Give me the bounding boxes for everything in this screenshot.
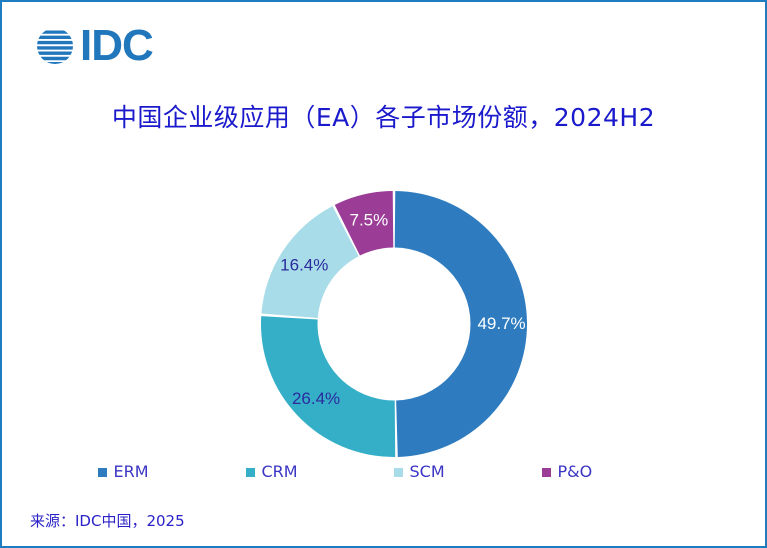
legend-swatch-icon: [394, 468, 403, 477]
slice-label-erm: 49.7%: [477, 314, 525, 333]
legend-item-scm[interactable]: SCM: [394, 464, 542, 480]
legend-swatch-icon: [246, 468, 255, 477]
legend-item-label: ERM: [114, 464, 149, 480]
source-note: 来源：IDC中国，2025: [30, 510, 185, 531]
legend-item-label: CRM: [262, 464, 298, 480]
donut-chart-svg: 49.7%26.4%16.4%7.5%: [260, 188, 528, 460]
donut-slice-crm[interactable]: [261, 316, 395, 457]
legend-item-crm[interactable]: CRM: [246, 464, 394, 480]
chart-page: IDC 中国企业级应用（EA）各子市场份额，2024H2 49.7%26.4%1…: [0, 0, 767, 548]
slice-label-p-o: 7.5%: [350, 210, 389, 229]
donut-chart: 49.7%26.4%16.4%7.5%: [260, 188, 528, 460]
legend-item-label: SCM: [410, 464, 445, 480]
idc-logo: IDC: [32, 20, 153, 72]
chart-title: 中国企业级应用（EA）各子市场份额，2024H2: [2, 98, 765, 134]
legend-item-label: P&O: [558, 464, 593, 480]
chart-legend: ERMCRMSCMP&O: [62, 464, 725, 480]
legend-item-p-o[interactable]: P&O: [542, 464, 690, 480]
slice-label-crm: 26.4%: [292, 389, 340, 408]
legend-item-erm[interactable]: ERM: [98, 464, 246, 480]
globe-icon: [32, 23, 78, 69]
legend-swatch-icon: [98, 468, 107, 477]
slice-label-scm: 16.4%: [280, 256, 328, 275]
legend-swatch-icon: [542, 468, 551, 477]
logo-wordmark: IDC: [80, 24, 153, 68]
